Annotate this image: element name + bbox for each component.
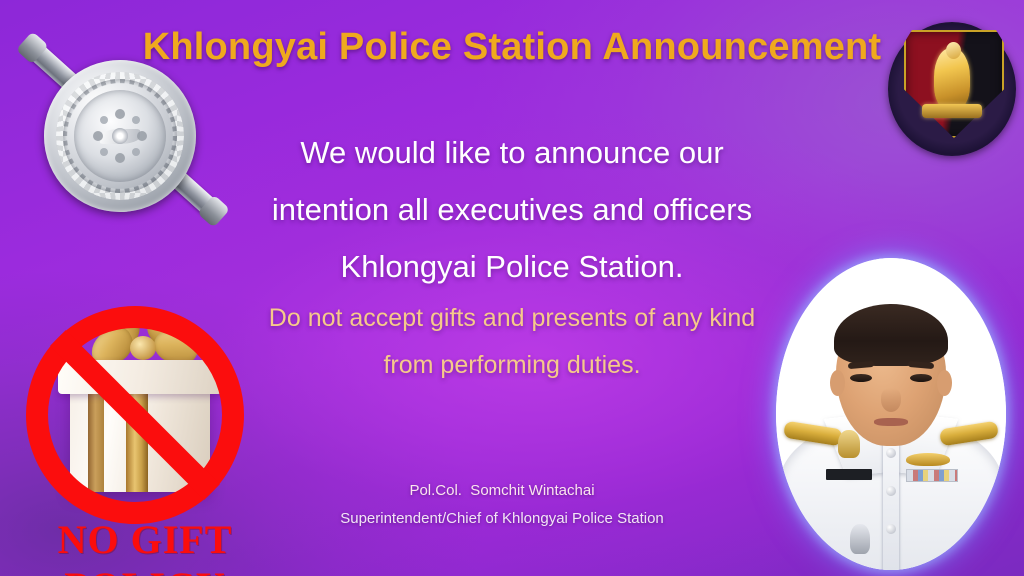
portrait-lower-badge: [850, 524, 870, 554]
body-line-4: Do not accept gifts and presents of any …: [0, 295, 1024, 342]
emblem-gold-base: [922, 104, 982, 118]
portrait-nameplate: [826, 469, 872, 480]
page-title: Khlongyai Police Station Announcement: [0, 26, 1024, 69]
signatory-name: Pol.Col. Somchit Wintachai: [210, 478, 794, 504]
portrait-button-3: [886, 524, 896, 534]
portrait-crest-badge: [838, 430, 860, 458]
body-line-5: from performing duties.: [0, 342, 1024, 389]
portrait-nose: [881, 388, 901, 412]
portrait-button-2: [886, 486, 896, 496]
portrait-mouth: [874, 418, 908, 426]
gift-box-body: [70, 374, 210, 492]
body-line-2: intention all executives and officers: [0, 181, 1024, 238]
portrait-button-1: [886, 448, 896, 458]
signature-block: Pol.Col. Somchit Wintachai Superintenden…: [210, 478, 794, 534]
body-line-1: We would like to announce our: [0, 124, 1024, 181]
announcement-poster: Khlongyai Police Station Announcement We…: [0, 0, 1024, 576]
portrait-ribbon-bar: [906, 469, 958, 482]
announcement-body: We would like to announce our intention …: [0, 124, 1024, 389]
body-line-3: Khlongyai Police Station.: [0, 238, 1024, 295]
no-gift-policy-label: NO GIFT POLICY: [10, 516, 280, 576]
gift-ribbon-secondary: [88, 374, 104, 492]
portrait-wing-badge: [906, 453, 950, 466]
signatory-role: Superintendent/Chief of Khlongyai Police…: [210, 504, 794, 534]
